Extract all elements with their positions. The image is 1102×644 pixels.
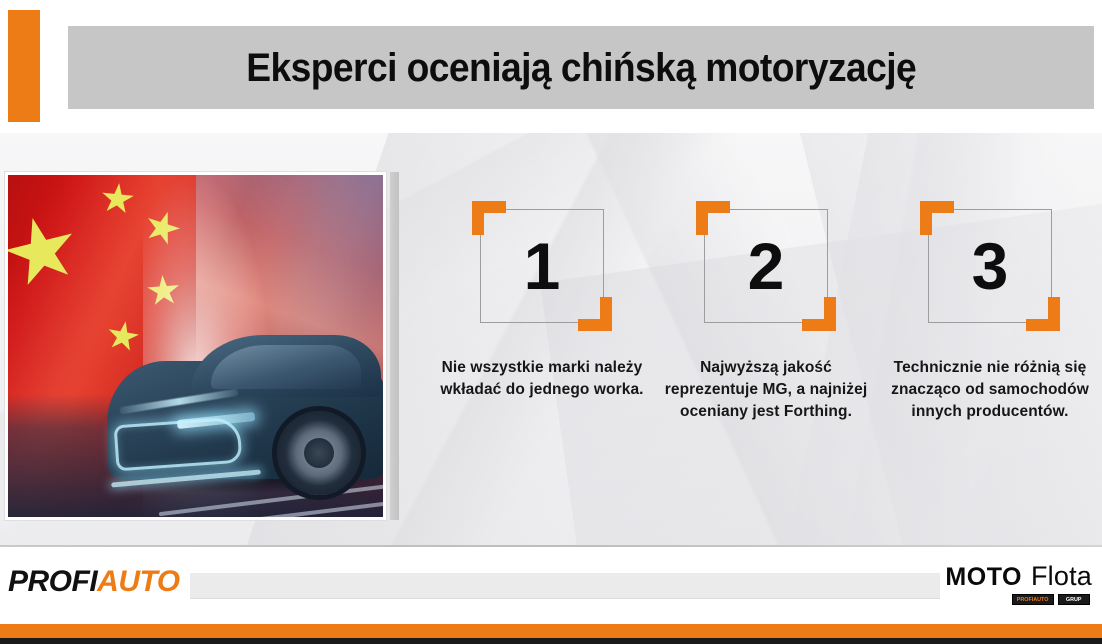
point-item-1: 1 Nie wszystkie marki należy wkładać do …	[430, 201, 654, 401]
photo-divider	[390, 172, 399, 520]
badge-grup: GRUP	[1058, 594, 1090, 605]
chinese-flag-car-image	[8, 175, 383, 517]
motoflota-wordmark: MOTO Flota	[942, 563, 1092, 590]
badge-grup-label: GRUP	[1066, 597, 1082, 602]
badge-profiauto: PROFIAUTO	[1012, 594, 1054, 605]
profiauto-logo-profi: PROFI	[8, 565, 97, 598]
point-box-3: 3	[920, 201, 1060, 331]
profiauto-logo: PROFIAUTO	[8, 567, 180, 597]
profiauto-logo-auto: AUTO	[97, 565, 179, 598]
point-number-2: 2	[696, 201, 836, 331]
point-number-1: 1	[472, 201, 612, 331]
point-item-3: 3 Technicznie nie różnią się znacząco od…	[878, 201, 1102, 423]
photo-panel	[5, 172, 386, 520]
footer-gray-bar	[190, 573, 940, 599]
car-illustration	[99, 316, 383, 501]
motoflota-logo-moto: MOTO	[945, 565, 1022, 590]
title-bar: Eksperci oceniają chińską motoryzację	[68, 26, 1094, 109]
header-accent-bar	[8, 10, 40, 122]
car-window	[211, 345, 361, 389]
page-title: Eksperci oceniają chińską motoryzację	[246, 48, 916, 88]
footer-divider	[0, 545, 1102, 547]
infographic-page: Eksperci oceniają chińską motoryzację	[0, 0, 1102, 644]
footer: PROFIAUTO MOTO Flota PROFIAUTO GRUP	[0, 545, 1102, 644]
footer-orange-strip	[0, 624, 1102, 638]
motoflota-logo: MOTO Flota PROFIAUTO GRUP	[942, 563, 1092, 611]
car-wheel	[277, 411, 361, 495]
point-caption-1: Nie wszystkie marki należy wkładać do je…	[430, 357, 654, 401]
motoflota-badges: PROFIAUTO GRUP	[942, 594, 1090, 605]
point-box-2: 2	[696, 201, 836, 331]
car-grille	[114, 417, 243, 472]
point-number-3: 3	[920, 201, 1060, 331]
motoflota-logo-flota: Flota	[1031, 563, 1092, 590]
header: Eksperci oceniają chińską motoryzację	[0, 0, 1102, 133]
point-caption-2: Najwyższą jakość reprezentuje MG, a najn…	[654, 357, 878, 423]
points-list: 1 Nie wszystkie marki należy wkładać do …	[430, 133, 1102, 545]
point-box-1: 1	[472, 201, 612, 331]
point-item-2: 2 Najwyższą jakość reprezentuje MG, a na…	[654, 201, 878, 423]
point-caption-3: Technicznie nie różnią się znacząco od s…	[878, 357, 1102, 423]
car-wheel-hub	[304, 438, 334, 468]
badge-profiauto-label: PROFIAUTO	[1017, 597, 1049, 602]
footer-dark-strip	[0, 638, 1102, 644]
main-content: 1 Nie wszystkie marki należy wkładać do …	[0, 133, 1102, 545]
